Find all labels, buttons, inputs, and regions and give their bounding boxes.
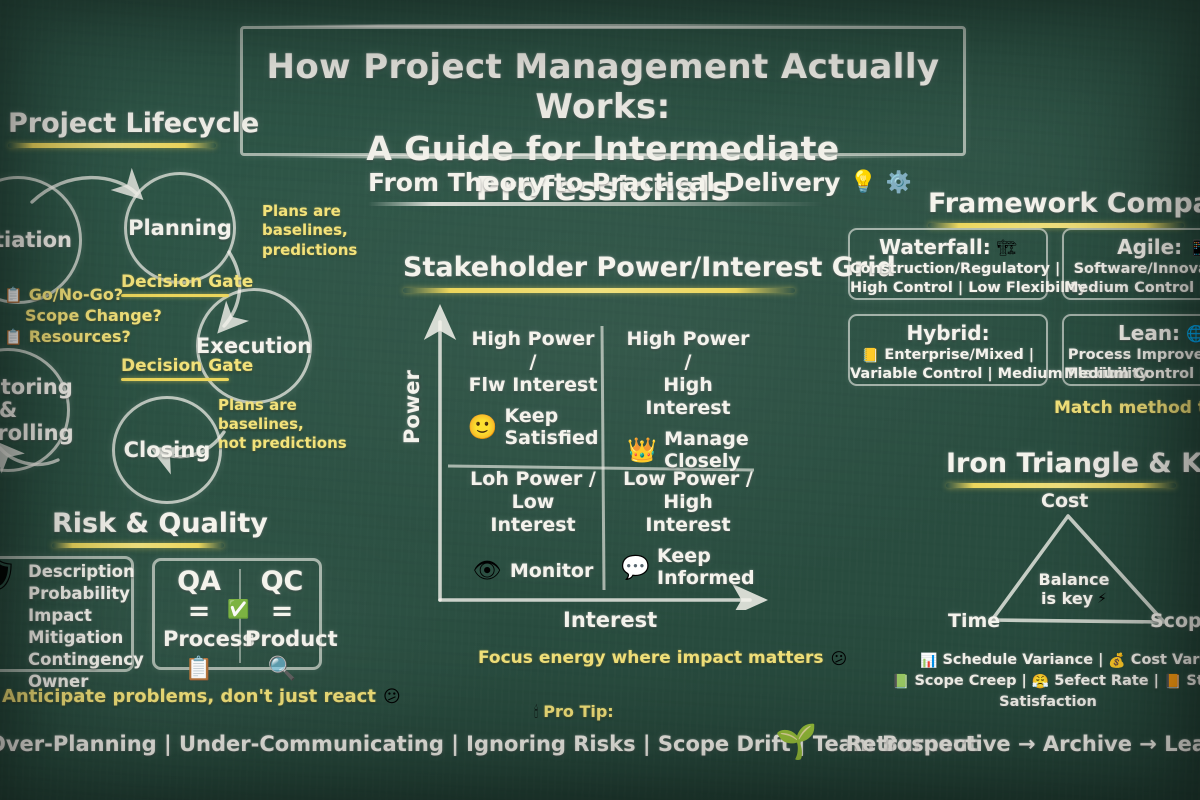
smiley-icon: 🙂	[468, 413, 498, 441]
framework-card-lean: Lean: 🌐 Process Improvement | Medium Con…	[1062, 314, 1200, 386]
quadrant-title-line2: Low Interest	[468, 491, 598, 537]
lifecycle-node-label: Initiation	[0, 229, 72, 252]
lifecycle-node-label: Planning	[128, 217, 232, 240]
gate-question: Scope Change?	[25, 305, 162, 326]
framework-name: Agile:	[1117, 235, 1182, 260]
kpi-label: Stakeholder	[1186, 671, 1200, 692]
money-icon: 💰	[1108, 653, 1125, 669]
quadrant-title-line1: High Power /	[622, 328, 754, 374]
confused-face-icon: 😕	[383, 687, 401, 707]
quadrant-action-line1: Keep	[504, 405, 598, 427]
pro-tip-block: 🕯 Pro Tip:	[534, 702, 614, 721]
risk-underline	[52, 543, 224, 548]
mobile-icon: 📱	[1188, 239, 1200, 257]
kpi-label: Scope Creep	[914, 671, 1016, 692]
kpi-tail: Satisfaction	[920, 692, 1200, 713]
gear-icon: ⚙️	[886, 170, 912, 195]
quadrant-action-line1: Keep	[657, 545, 755, 567]
framework-card-hybrid: Hybrid: 📒 Enterprise/Mixed | Variable Co…	[848, 314, 1048, 386]
lifecycle-note-1: Plans are baselines, predictions	[262, 202, 357, 260]
framework-detail-line2: Variable Control | Medium Flexibility	[850, 365, 1046, 384]
gate-label: Decision Gate	[121, 356, 253, 376]
grid-y-axis-label: Power	[400, 370, 424, 444]
kpi-label: 5efect Rate	[1054, 671, 1148, 692]
clipboard-icon: 📋	[4, 328, 23, 346]
note-line: Plans are	[262, 202, 357, 221]
grid-footnote: Focus energy where impact matters	[478, 648, 823, 668]
closing-flow: Retrospective → Archive → Learn → Improv…	[846, 732, 1200, 756]
kpi-label: Cost Variance	[1131, 650, 1200, 671]
kpi-separator: |	[1098, 650, 1103, 671]
grid-heading: Stakeholder Power/Interest Grid	[403, 252, 896, 283]
grid-quadrant-low-power-low-interest: Loh Power / Low Interest 👁 Monitor	[468, 468, 598, 584]
kpi-list: 📊 Schedule Variance | 💰 Cost Variance | …	[920, 650, 1200, 713]
quadrant-title-line2: High Interest	[622, 374, 754, 420]
kpi-separator: |	[1154, 671, 1159, 692]
gate-question: Go/No-Go?	[29, 284, 123, 305]
globe-icon: 🌐	[1186, 324, 1200, 343]
triangle-heading: Iron Triangle & KPIs	[946, 448, 1200, 479]
grid-footnote-block: Focus energy where impact matters 😕	[478, 648, 847, 668]
triangle-heading-block: Iron Triangle & KPIs	[946, 448, 1200, 488]
risk-register-item: Impact	[28, 605, 144, 627]
triangle-label-time: Time	[948, 610, 1000, 632]
lifecycle-node-label: Execution	[196, 335, 312, 358]
framework-footnote: Match method to work	[1054, 398, 1200, 418]
qc-cell: QC = Product 🔍	[245, 567, 319, 682]
clipboard-icon: 📋	[4, 286, 23, 304]
quadrant-title-line1: Loh Power /	[468, 468, 598, 491]
subtitle-text: From Theory to Practical Delivery	[368, 168, 840, 197]
frustrated-face-icon: 😤	[1032, 674, 1049, 690]
lifecycle-gate-2: Decision Gate	[121, 356, 253, 381]
risk-register-item: Probability	[28, 583, 144, 605]
quadrant-title-line2: High Interest	[622, 491, 754, 537]
note-line: predictions	[262, 241, 357, 260]
framework-detail-line1: Enterprise/Mixed |	[884, 346, 1034, 365]
crown-icon: 👑	[627, 436, 657, 464]
lightning-icon: ⚡	[1097, 591, 1107, 607]
lightbulb-icon: 💡	[849, 170, 876, 195]
grid-quadrant-high-power-high-interest: High Power / High Interest 👑 Manage Clos…	[622, 328, 754, 472]
grid-quadrant-low-power-high-interest: Low Power / High Interest 💬 Keep Informe…	[622, 468, 754, 589]
quadrant-action-line1: Manage	[664, 428, 749, 450]
lifecycle-node-planning: Planning	[124, 172, 236, 284]
subtitle-block: From Theory to Practical Delivery 💡 ⚙️	[368, 168, 848, 206]
qc-title: QC =	[245, 567, 319, 627]
quadrant-title-line1: High Power /	[468, 328, 598, 374]
framework-heading-block: Framework Comparison	[928, 188, 1200, 228]
center-line-2: is key	[1041, 589, 1093, 608]
note-line: baselines,	[218, 415, 347, 434]
qa-subtitle: Process	[163, 627, 235, 652]
chart-icon: 📊	[920, 653, 937, 669]
quadrant-action-line1: Monitor	[510, 560, 594, 582]
framework-card-agile: Agile: 📱 Software/Innovation | Medium Co…	[1062, 228, 1200, 300]
framework-detail-line2: High Control | Low Flexibility	[850, 279, 1046, 298]
lifecycle-note-2: Plans are baselines, not predictions	[218, 396, 347, 453]
framework-name: Waterfall:	[879, 235, 991, 260]
kpi-label: Schedule Variance	[942, 650, 1093, 671]
center-line-1: Balance	[1024, 570, 1124, 589]
title-line-1: How Project Management Actually Works:	[243, 47, 963, 127]
grid-heading-block: Stakeholder Power/Interest Grid	[403, 252, 896, 293]
triangle-center-note: Balance is key ⚡	[1024, 570, 1124, 608]
quadrant-action-line2: Informed	[657, 567, 755, 589]
eye-icon: 👁	[473, 557, 502, 584]
risk-register-item: Mitigation	[28, 627, 144, 649]
candle-icon: 🕯	[534, 703, 538, 721]
triangle-underline	[946, 483, 1176, 488]
shield-icon: 🛡	[0, 558, 18, 593]
framework-card-waterfall: Waterfall: 🏗 Construction/Regulatory | H…	[848, 228, 1048, 300]
note-line: baselines,	[262, 221, 357, 240]
gate-underline	[121, 378, 229, 381]
framework-detail-line2: Medium Control | High Flexibility	[1064, 279, 1200, 298]
lifecycle-underline	[8, 143, 216, 148]
quadrant-title-line1: Low Power /	[622, 468, 754, 491]
note-line: not predictions	[218, 434, 347, 453]
green-book-icon: 📗	[892, 674, 909, 690]
speech-bubble-icon: 💬	[621, 554, 650, 581]
subtitle-underline	[368, 202, 823, 206]
construction-icon: 🏗	[997, 238, 1017, 257]
check-icon: ✅	[227, 599, 249, 620]
pitfalls-list: Over-Planning | Under-Communicating | Ig…	[0, 732, 978, 756]
quadrant-title-line2: Flw Interest	[468, 374, 598, 397]
framework-heading: Framework Comparison	[928, 188, 1200, 219]
risk-heading: Risk & Quality	[52, 508, 268, 539]
lifecycle-heading: Project Lifecycle	[8, 108, 259, 139]
framework-detail-line2: Medium Control | High Flexibility	[1064, 365, 1200, 384]
lifecycle-node-label: Monitoring & Controlling	[0, 376, 74, 445]
qa-qc-box: QA = Process 📋 QC = Product 🔍 ✅	[152, 558, 322, 670]
qa-cell: QA = Process 📋	[163, 567, 235, 682]
quadrant-action-line2: Satisfied	[504, 427, 598, 449]
orange-book-icon: 📙	[1164, 674, 1181, 690]
gate-question: Resources?	[29, 326, 131, 347]
risk-footnote-block: Anticipate problems, don't just react 😕	[2, 686, 401, 707]
framework-detail-line1: Process Improvement |	[1064, 346, 1200, 365]
grid-quadrant-high-power-low-interest: High Power / Flw Interest 🙂 Keep Satisfi…	[468, 328, 598, 449]
framework-detail-line1: Software/Innovation |	[1064, 260, 1200, 279]
confused-face-icon: 😕	[830, 649, 847, 668]
pro-tip-label: Pro Tip:	[543, 702, 613, 721]
framework-name: Hybrid:	[906, 321, 989, 346]
seedling-icon: 🌱	[775, 722, 817, 762]
triangle-label-scope: Scope	[1150, 610, 1200, 632]
risk-footnote: Anticipate problems, don't just react	[2, 686, 376, 707]
triangle-label-cost: Cost	[1041, 490, 1088, 512]
kpi-separator: |	[1022, 671, 1027, 692]
lifecycle-node-execution: Execution	[196, 288, 312, 404]
framework-name: Lean:	[1118, 321, 1180, 346]
framework-detail-line1: Construction/Regulatory |	[850, 260, 1046, 279]
lifecycle-node-closing: Closing	[112, 396, 222, 504]
risk-register-list: Description Probability Impact Mitigatio…	[28, 561, 144, 693]
qa-title: QA =	[163, 567, 235, 627]
magnifier-icon: 🔍	[245, 655, 319, 682]
notebook-icon: 📒	[862, 348, 879, 364]
risk-register-item: Description	[28, 561, 144, 583]
note-line: Plans are	[218, 396, 347, 415]
grid-x-axis-label: Interest	[563, 608, 657, 632]
qc-subtitle: Product	[245, 627, 319, 652]
grid-underline	[403, 288, 795, 293]
risk-register-item: Contingency	[28, 649, 144, 671]
clipboard-search-icon: 📋	[163, 655, 235, 682]
lifecycle-node-label: Closing	[124, 439, 211, 462]
risk-heading-block: Risk & Quality	[52, 508, 268, 548]
gate-questions-list: 📋 Go/No-Go? Scope Change? 📋 Resources?	[4, 284, 162, 347]
lifecycle-heading-block: Project Lifecycle	[8, 108, 259, 148]
title-frame: How Project Management Actually Works: A…	[240, 26, 966, 156]
